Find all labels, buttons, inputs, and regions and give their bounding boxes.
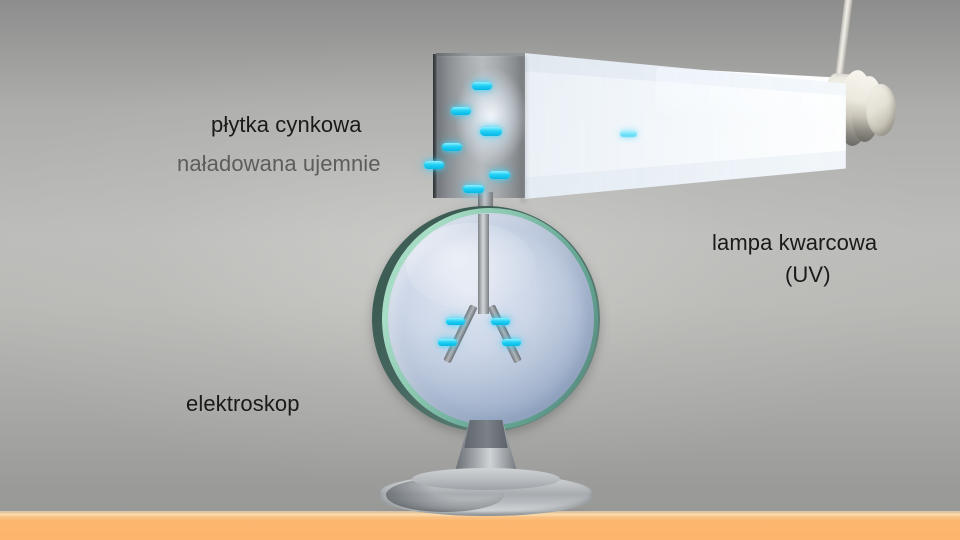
electron-in-chamber — [438, 339, 457, 346]
electron-on-plate — [424, 161, 444, 169]
electron-in-chamber — [502, 339, 521, 346]
zinc-plate-left-edge — [433, 54, 437, 198]
electron-in-beam — [620, 131, 637, 137]
label-electroscope: elektroskop — [186, 391, 300, 417]
glass-highlight — [406, 223, 536, 309]
electron-in-chamber — [446, 318, 465, 325]
zinc-plate-top-edge — [436, 53, 525, 56]
electron-in-chamber — [491, 318, 510, 325]
electron-on-plate — [463, 185, 484, 193]
electroscope-rod — [478, 214, 489, 314]
electroscope-base-top — [412, 468, 560, 490]
electron-on-plate — [451, 107, 471, 115]
electron-on-plate — [489, 171, 510, 179]
electron-on-plate — [442, 143, 462, 151]
table-surface — [0, 513, 960, 540]
label-uv-lamp-line2: (UV) — [785, 262, 831, 288]
label-zinc-plate-line1: płytka cynkowa — [211, 112, 362, 138]
uv-lamp-end-knob — [866, 84, 896, 136]
zinc-plate — [433, 53, 527, 199]
label-uv-lamp-line1: lampa kwarcowa — [712, 230, 877, 256]
label-zinc-plate-line2: naładowana ujemnie — [177, 151, 381, 177]
zinc-plate-face — [436, 53, 525, 198]
electron-on-plate — [480, 127, 502, 136]
electron-on-plate — [472, 82, 492, 90]
diagram-canvas: płytka cynkowa naładowana ujemnie lampa … — [0, 0, 960, 540]
